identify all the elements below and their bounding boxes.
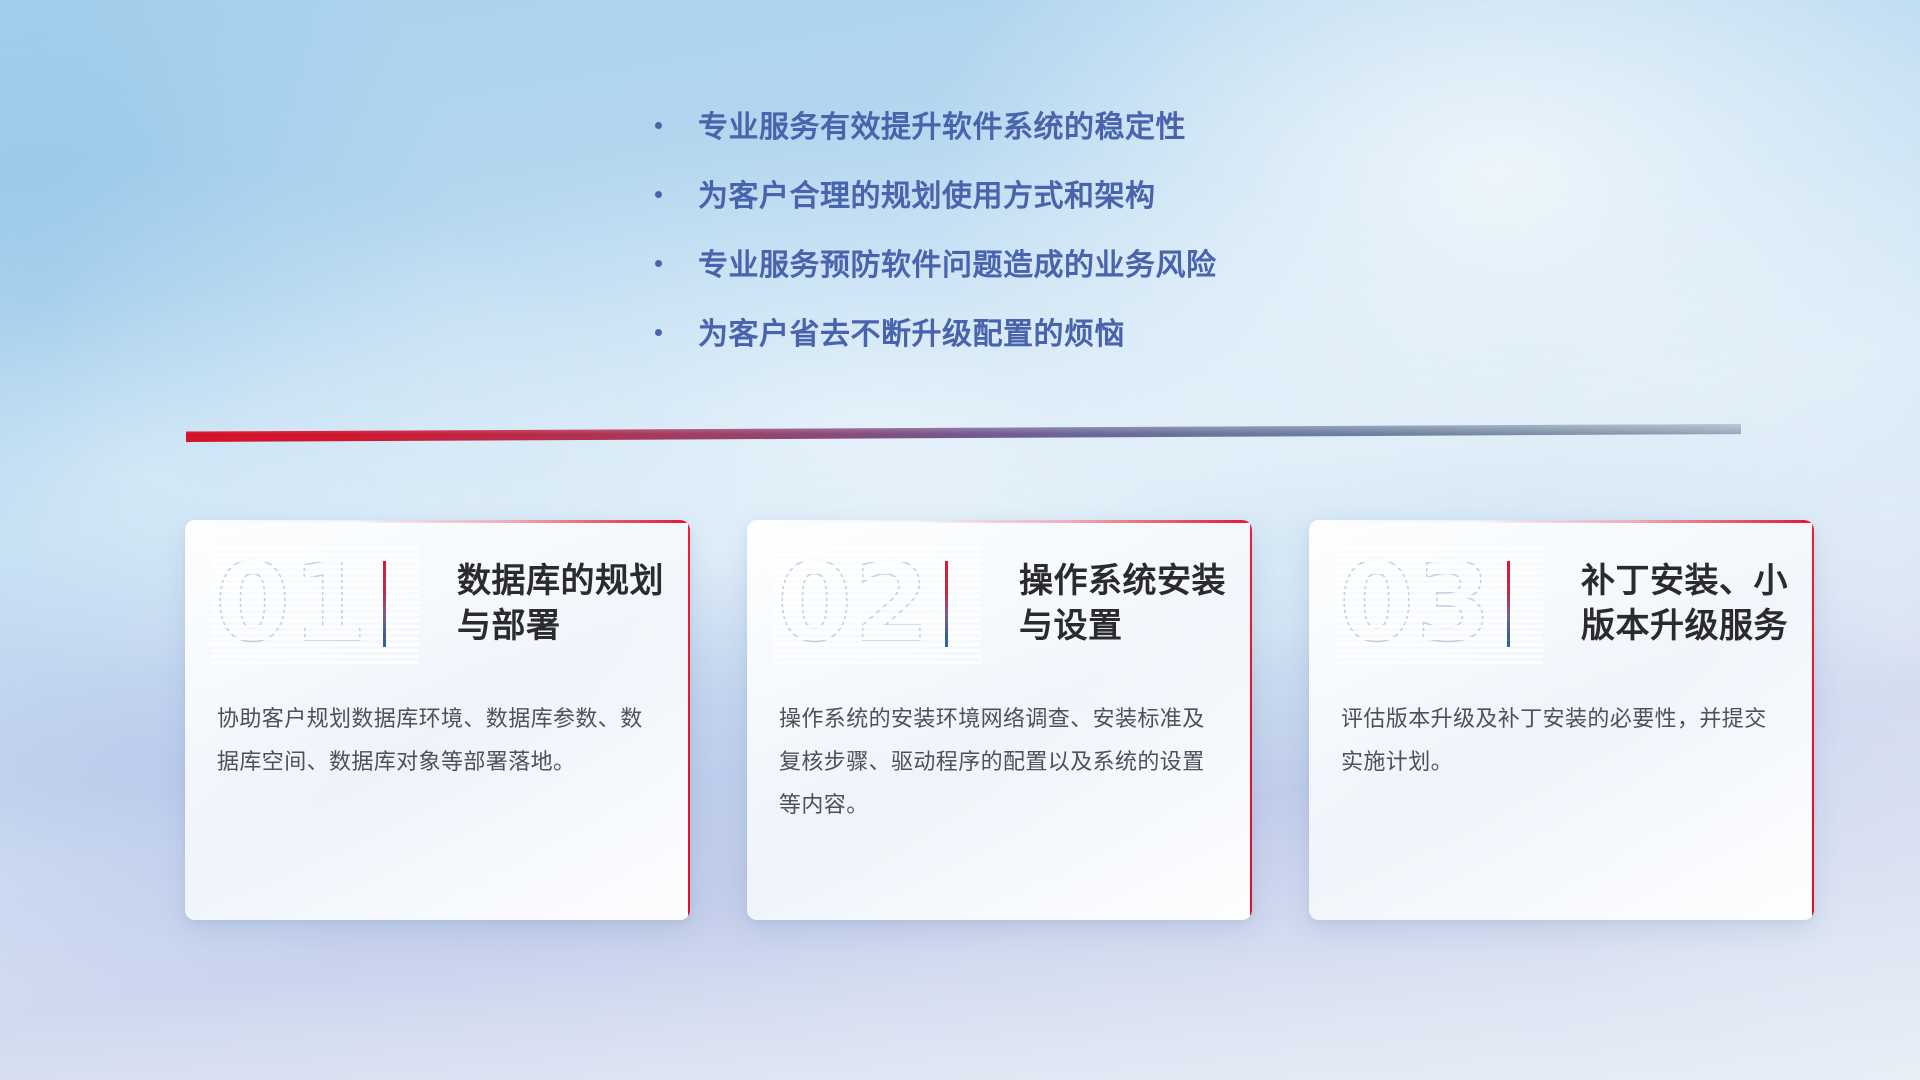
card-number-divider xyxy=(1507,561,1510,647)
list-item: 专业服务预防软件问题造成的业务风险 xyxy=(655,246,1555,286)
list-item: 专业服务有效提升软件系统的稳定性 xyxy=(655,108,1555,148)
service-card-03[interactable]: 03 补丁安装、小版本升级服务 评估版本升级及补丁安装的必要性，并提交实施计划。 xyxy=(1309,520,1814,920)
bullet-text: 为客户合理的规划使用方式和架构 xyxy=(698,177,1156,217)
card-title: 补丁安装、小版本升级服务 xyxy=(1581,559,1811,649)
card-header: 01 数据库的规划与部署 xyxy=(185,520,690,688)
card-description: 协助客户规划数据库环境、数据库参数、数据库空间、数据库对象等部署落地。 xyxy=(185,688,690,784)
list-item: 为客户省去不断升级配置的烦恼 xyxy=(655,315,1555,355)
card-description: 操作系统的安装环境网络调查、安装标准及复核步骤、驱动程序的配置以及系统的设置等内… xyxy=(747,688,1252,827)
card-title: 数据库的规划与部署 xyxy=(457,559,687,649)
benefits-bullet-list: 专业服务有效提升软件系统的稳定性 为客户合理的规划使用方式和架构 专业服务预防软… xyxy=(655,108,1555,384)
slide-canvas: 专业服务有效提升软件系统的稳定性 为客户合理的规划使用方式和架构 专业服务预防软… xyxy=(0,0,1920,1080)
card-description: 评估版本升级及补丁安装的必要性，并提交实施计划。 xyxy=(1309,688,1814,784)
card-title: 操作系统安装与设置 xyxy=(1019,559,1249,649)
divider-gloss-highlight xyxy=(186,424,1741,442)
list-item: 为客户合理的规划使用方式和架构 xyxy=(655,177,1555,217)
bullet-text: 专业服务预防软件问题造成的业务风险 xyxy=(698,246,1217,286)
bullet-text: 为客户省去不断升级配置的烦恼 xyxy=(698,315,1125,355)
card-header: 03 补丁安装、小版本升级服务 xyxy=(1309,520,1814,688)
card-number-divider xyxy=(945,561,948,647)
bullet-dot-icon xyxy=(655,260,662,267)
service-card-row: 01 数据库的规划与部署 协助客户规划数据库环境、数据库参数、数据库空间、数据库… xyxy=(185,520,1815,925)
service-card-01[interactable]: 01 数据库的规划与部署 协助客户规划数据库环境、数据库参数、数据库空间、数据库… xyxy=(185,520,690,920)
card-number-divider xyxy=(383,561,386,647)
card-header: 02 操作系统安装与设置 xyxy=(747,520,1252,688)
section-divider xyxy=(186,424,1741,442)
bullet-dot-icon xyxy=(655,191,662,198)
service-card-02[interactable]: 02 操作系统安装与设置 操作系统的安装环境网络调查、安装标准及复核步骤、驱动程… xyxy=(747,520,1252,920)
bullet-dot-icon xyxy=(655,122,662,129)
bullet-dot-icon xyxy=(655,329,662,336)
bullet-text: 专业服务有效提升软件系统的稳定性 xyxy=(698,108,1186,148)
